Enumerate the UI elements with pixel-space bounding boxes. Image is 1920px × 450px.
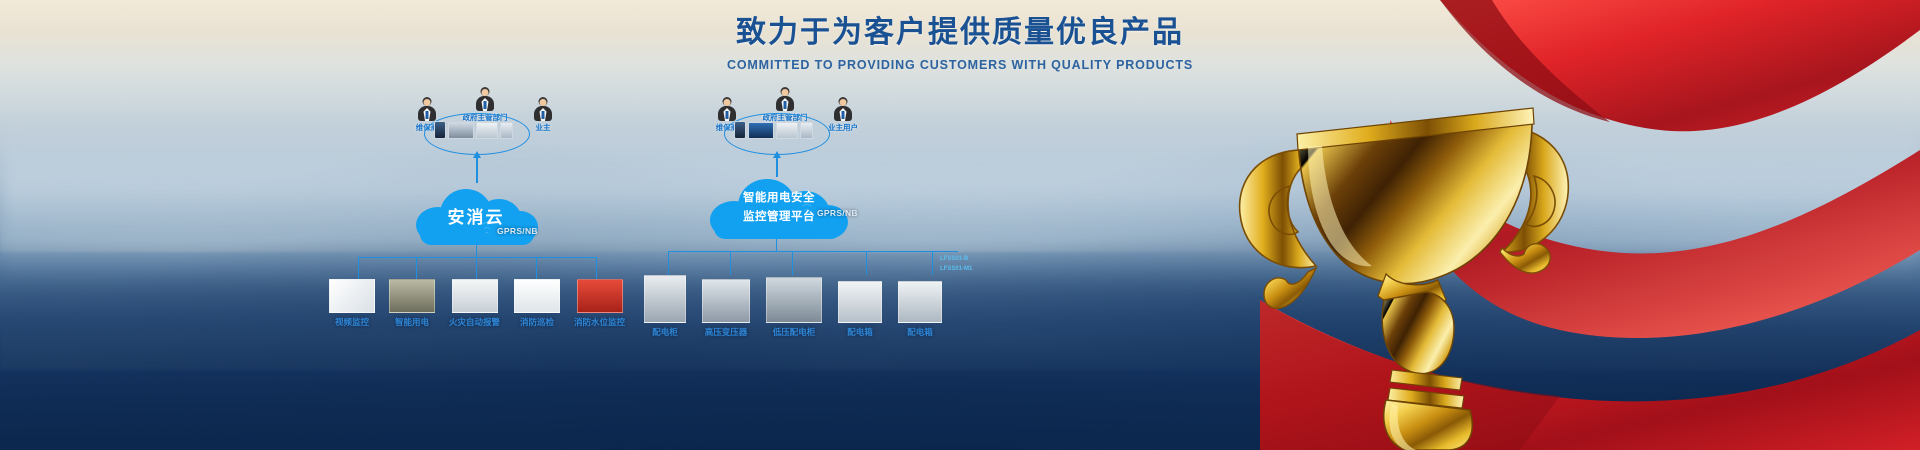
branch-line [358, 257, 359, 279]
promo-banner: 致力于为客户提供质量优良产品 COMMITTED TO PROVIDING CU… [0, 0, 1920, 450]
branch-line [476, 257, 477, 279]
branch-line [416, 257, 417, 279]
person-icon [718, 97, 737, 121]
terminal-devices [434, 121, 513, 139]
person-icon [834, 97, 853, 121]
product-thumb-switchgear [644, 275, 686, 323]
trunk-line [776, 239, 777, 251]
uplink-arrow [476, 157, 478, 183]
product-item: 配电箱 [898, 281, 942, 338]
product-thumb-cctv [329, 279, 375, 313]
uplink-arrow [776, 157, 778, 177]
product-item: 智能用电 [389, 279, 435, 328]
model-label: LFSS01-B [940, 255, 968, 264]
branch-line [730, 251, 731, 275]
branch-line [792, 251, 793, 275]
person-icon [776, 87, 795, 111]
product-item: 低压配电柜 [766, 277, 822, 338]
trophy-handle-left-scroll [1264, 268, 1316, 308]
product-thumb-water-level [577, 279, 623, 313]
product-caption: 视频监控 [329, 316, 375, 328]
cloud-label-line1: 智能用电安全 [706, 189, 852, 205]
product-caption: 配电箱 [898, 326, 942, 338]
device-laptop-icon [748, 122, 774, 139]
product-item: 高压变压器 [702, 279, 750, 338]
product-thumb-lv-cabinet [766, 277, 822, 323]
product-row: 配电柜 高压变压器 低压配电柜 配电箱 配电箱 [644, 275, 942, 338]
product-item: 配电箱 [838, 281, 882, 338]
page-subtitle: COMMITTED TO PROVIDING CUSTOMERS WITH QU… [0, 58, 1920, 72]
terminal-devices [734, 121, 813, 139]
device-laptop-icon [448, 122, 474, 139]
branch-line [536, 257, 537, 279]
bus-line [668, 251, 958, 252]
left-diagram: 维保商 政府主管部门 业主 [330, 95, 650, 415]
product-item: 视频监控 [329, 279, 375, 328]
person-icon [418, 97, 437, 121]
page-title: 致力于为客户提供质量优良产品 [0, 14, 1920, 52]
cloud-label: 安消云 [410, 203, 542, 228]
device-tablet-icon [800, 122, 813, 139]
model-label: LFSS01-M1 [940, 265, 972, 274]
product-thumb-distribution-box-2 [898, 281, 942, 323]
product-caption: 火灾自动报警 [449, 316, 500, 328]
product-thumb-meter [389, 279, 435, 313]
product-item: 消防巡检 [514, 279, 560, 328]
product-item: 消防水位监控 [574, 279, 625, 328]
headline-block: 致力于为客户提供质量优良产品 COMMITTED TO PROVIDING CU… [0, 14, 1920, 72]
product-item: 配电柜 [644, 275, 686, 338]
product-caption: 消防水位监控 [574, 316, 625, 328]
device-phone-icon [734, 121, 746, 139]
person-icon [476, 87, 495, 111]
product-row: 视频监控 智能用电 火灾自动报警 消防巡检 消防水位监控 [329, 279, 625, 328]
product-item: 火灾自动报警 [449, 279, 500, 328]
product-caption: 消防巡检 [514, 316, 560, 328]
trunk-line [476, 243, 477, 257]
product-caption: 配电柜 [644, 326, 686, 338]
branch-line [668, 251, 669, 275]
branch-line [596, 257, 597, 279]
product-thumb-inspection [514, 279, 560, 313]
product-caption: 配电箱 [838, 326, 882, 338]
product-caption: 智能用电 [389, 316, 435, 328]
right-diagram: 维保商 政府主管部门 业主用户 [640, 95, 1060, 415]
product-thumb-transformer [702, 279, 750, 323]
product-thumb-distribution-box-1 [838, 281, 882, 323]
branch-line [866, 251, 867, 275]
branch-line [932, 251, 933, 275]
cloud-label-line2: 监控管理平台 [706, 208, 852, 224]
device-tablet-icon [500, 122, 513, 139]
product-caption: 高压变压器 [702, 326, 750, 338]
device-monitor-icon [776, 122, 798, 139]
person-icon [534, 97, 553, 121]
device-phone-icon [434, 121, 446, 139]
product-thumb-alarm [452, 279, 498, 313]
device-monitor-icon [476, 122, 498, 139]
product-caption: 低压配电柜 [766, 326, 822, 338]
